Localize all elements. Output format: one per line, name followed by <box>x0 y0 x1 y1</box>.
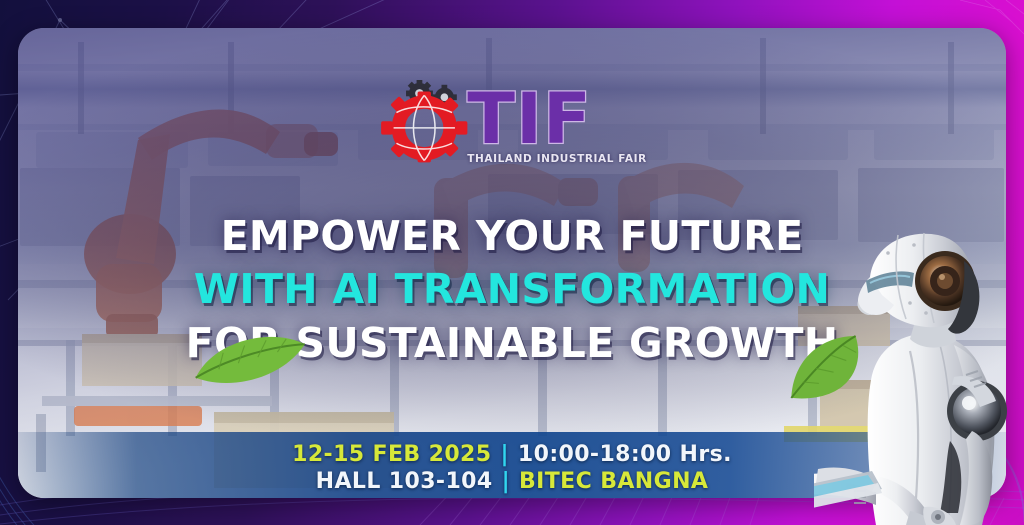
event-info-bar: 12-15 FEB 2025 | 10:00-18:00 Hrs. HALL 1… <box>18 432 1006 498</box>
banner-photo-card: TIF THAILAND INDUSTRIAL FAIR EMPOWER YOU… <box>18 28 1006 498</box>
event-dates: 12-15 FEB 2025 <box>292 442 491 467</box>
info-line-date-time: 12-15 FEB 2025 | 10:00-18:00 Hrs. <box>292 442 732 467</box>
logo-tagline: THAILAND INDUSTRIAL FAIR <box>467 153 647 165</box>
info-separator: | <box>500 442 508 467</box>
logo-wordmark: TIF <box>467 87 647 151</box>
event-hall: HALL 103-104 <box>316 469 493 494</box>
headline-line-2: WITH AI TRANSFORMATION <box>18 263 1006 316</box>
tif-logo: TIF THAILAND INDUSTRIAL FAIR <box>377 80 647 172</box>
info-separator: | <box>502 469 510 494</box>
event-venue: BITEC BANGNA <box>519 469 708 494</box>
event-banner: TIF THAILAND INDUSTRIAL FAIR EMPOWER YOU… <box>0 0 1024 525</box>
info-line-venue: HALL 103-104 | BITEC BANGNA <box>316 469 709 494</box>
gear-globe-logo-icon <box>377 80 473 172</box>
leaf-icon <box>187 322 313 396</box>
headline-line-1: EMPOWER YOUR FUTURE <box>18 210 1006 263</box>
event-hours: 10:00-18:00 Hrs. <box>518 442 732 467</box>
